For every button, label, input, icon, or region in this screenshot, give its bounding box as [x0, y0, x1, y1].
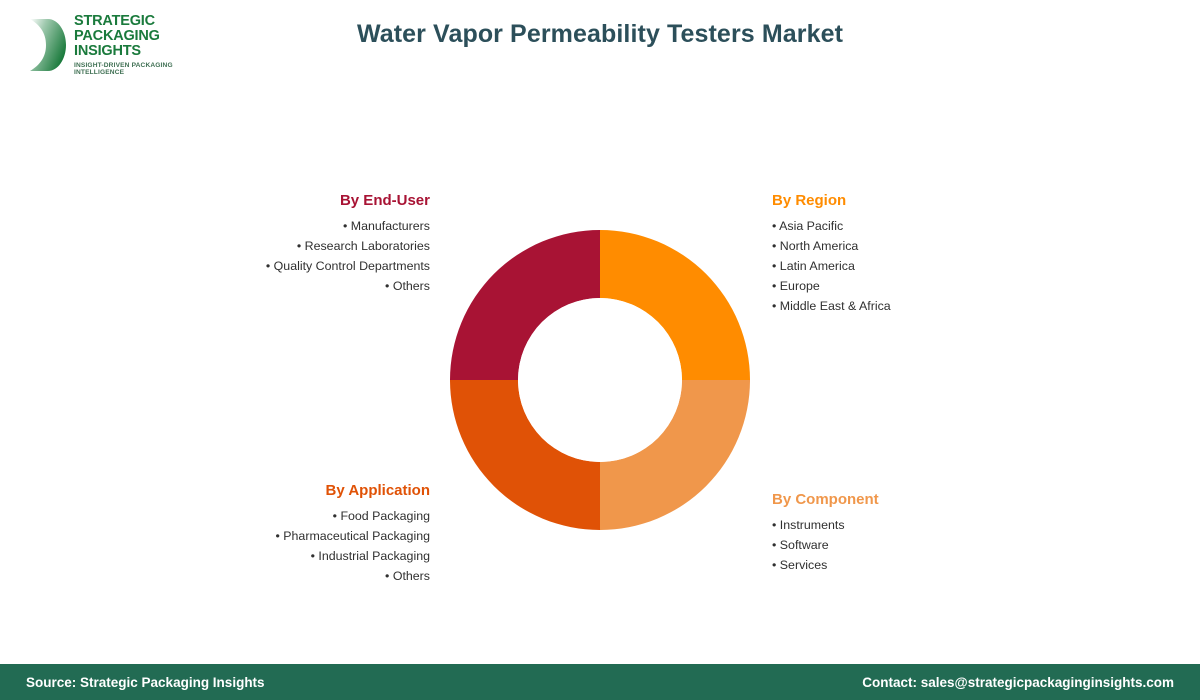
list-item: • Others [130, 276, 430, 296]
list-item: • Services [772, 555, 1092, 575]
donut-center-hole [518, 298, 682, 462]
segment-component-title: By Component [772, 492, 1092, 509]
segment-region: By Region • Asia Pacific • North America… [772, 193, 1092, 316]
list-item: • Instruments [772, 515, 1092, 535]
footer-contact[interactable]: Contact: sales@strategicpackaginginsight… [862, 675, 1174, 690]
header: STRATEGIC PACKAGING INSIGHTS INSIGHT-DRI… [0, 0, 1200, 90]
list-item-label: Services [780, 558, 828, 572]
list-item: • Asia Pacific [772, 216, 1092, 236]
list-item-label: North America [780, 239, 859, 253]
footer-source: Source: Strategic Packaging Insights [26, 675, 265, 690]
segment-region-list: • Asia Pacific • North America • Latin A… [772, 216, 1092, 316]
segment-component: By Component • Instruments • Software • … [772, 492, 1092, 575]
list-item: • Manufacturers [130, 216, 430, 236]
segment-application: By Application • Food Packaging • Pharma… [130, 483, 430, 586]
list-item-label: Others [393, 569, 430, 583]
segment-component-list: • Instruments • Software • Services [772, 515, 1092, 575]
list-item-label: Manufacturers [351, 219, 430, 233]
list-item: • Research Laboratories [130, 236, 430, 256]
list-item: • Europe [772, 276, 1092, 296]
list-item-label: Software [780, 538, 829, 552]
segment-application-title: By Application [130, 483, 430, 500]
list-item-label: Instruments [780, 518, 845, 532]
list-item: • Food Packaging [130, 506, 430, 526]
list-item-label: Latin America [780, 259, 855, 273]
logo-tagline: INSIGHT-DRIVEN PACKAGING INTELLIGENCE [74, 63, 208, 76]
list-item-label: Others [393, 279, 430, 293]
list-item-label: Europe [780, 279, 820, 293]
list-item: • Industrial Packaging [130, 546, 430, 566]
list-item-label: Food Packaging [340, 509, 430, 523]
page-title: Water Vapor Permeability Testers Market [0, 20, 1200, 49]
list-item: • Latin America [772, 256, 1092, 276]
list-item: • Quality Control Departments [130, 256, 430, 276]
segment-application-list: • Food Packaging • Pharmaceutical Packag… [130, 506, 430, 586]
donut-chart [450, 230, 750, 530]
footer-bar: Source: Strategic Packaging Insights Con… [0, 664, 1200, 700]
list-item-label: Middle East & Africa [780, 299, 891, 313]
segment-end-user-title: By End-User [130, 193, 430, 210]
list-item: • Others [130, 566, 430, 586]
segment-end-user: By End-User • Manufacturers • Research L… [130, 193, 430, 296]
list-item-label: Quality Control Departments [274, 259, 430, 273]
list-item: • Pharmaceutical Packaging [130, 526, 430, 546]
list-item-label: Research Laboratories [305, 239, 430, 253]
list-item-label: Industrial Packaging [318, 549, 430, 563]
segment-region-title: By Region [772, 193, 1092, 210]
list-item: • Middle East & Africa [772, 296, 1092, 316]
segment-end-user-list: • Manufacturers • Research Laboratories … [130, 216, 430, 296]
list-item: • North America [772, 236, 1092, 256]
list-item-label: Asia Pacific [779, 219, 843, 233]
list-item-label: Pharmaceutical Packaging [283, 529, 430, 543]
list-item: • Software [772, 535, 1092, 555]
